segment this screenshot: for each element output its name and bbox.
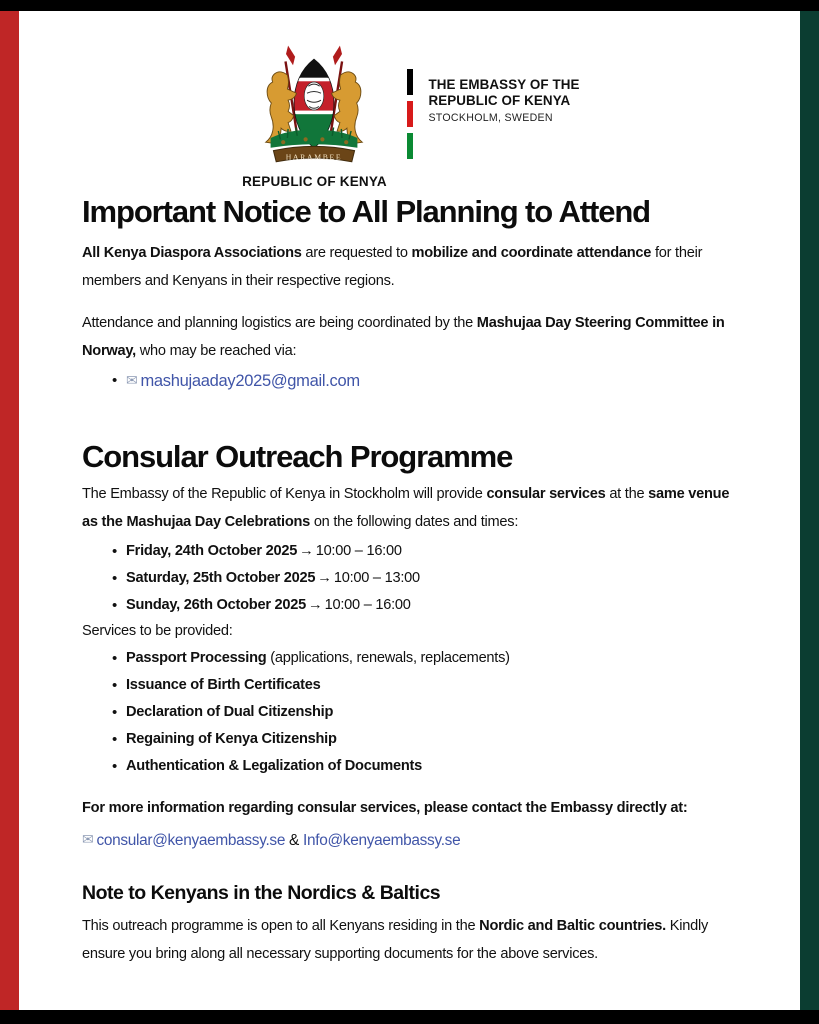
kenya-flag-bar-icon bbox=[407, 69, 413, 159]
notice-contact-list: ✉mashujaaday2025@gmail.com bbox=[82, 367, 738, 396]
consular-intro-paragraph: The Embassy of the Republic of Kenya in … bbox=[82, 480, 738, 536]
notice-paragraph-2: Attendance and planning logistics are be… bbox=[82, 309, 738, 365]
mashujaa-email-link[interactable]: mashujaaday2025@gmail.com bbox=[140, 372, 359, 390]
consular-email-link[interactable]: consular@kenyaembassy.se bbox=[96, 832, 285, 849]
consular-email-line: ✉consular@kenyaembassy.se & Info@kenyaem… bbox=[82, 824, 738, 856]
list-item: Passport Processing (applications, renew… bbox=[112, 645, 738, 672]
list-item: ✉mashujaaday2025@gmail.com bbox=[112, 367, 738, 396]
list-item: Authentication & Legalization of Documen… bbox=[112, 753, 738, 780]
poster-sheet: HARAMBEE REPUBLIC OF KENYA THE EMBASSY O… bbox=[19, 11, 800, 1010]
coat-of-arms-block: HARAMBEE REPUBLIC OF KENYA bbox=[239, 33, 389, 189]
list-item: Declaration of Dual Citizenship bbox=[112, 699, 738, 726]
embassy-name-line-2: REPUBLIC OF KENYA bbox=[428, 93, 579, 109]
consular-dates-list: Friday, 24th October 2025→10:00 – 16:00 … bbox=[82, 538, 738, 619]
list-item: Issuance of Birth Certificates bbox=[112, 672, 738, 699]
notice-title: Important Notice to All Planning to Atte… bbox=[82, 195, 738, 230]
poster-content: Important Notice to All Planning to Atte… bbox=[19, 195, 800, 968]
consular-services-list: Passport Processing (applications, renew… bbox=[82, 645, 738, 780]
date-day: Friday, 24th October 2025 bbox=[126, 543, 297, 559]
list-item: Sunday, 26th October 2025→10:00 – 16:00 bbox=[112, 592, 738, 619]
harambee-motto-text: HARAMBEE bbox=[286, 153, 343, 162]
service-name: Issuance of Birth Certificates bbox=[126, 677, 320, 693]
notice-p1-mid: are requested to bbox=[302, 245, 412, 261]
envelope-icon: ✉ bbox=[82, 824, 93, 854]
embassy-text-block: THE EMBASSY OF THE REPUBLIC OF KENYA STO… bbox=[428, 69, 579, 126]
embassy-city-label: STOCKHOLM, SWEDEN bbox=[428, 111, 579, 126]
consular-intro-mid: at the bbox=[606, 486, 649, 502]
arrow-right-icon: → bbox=[315, 570, 334, 586]
notice-p1-bold-2: mobilize and coordinate attendance bbox=[412, 245, 652, 261]
list-item: Friday, 24th October 2025→10:00 – 16:00 bbox=[112, 538, 738, 565]
notice-p2-tail: who may be reached via: bbox=[136, 343, 296, 359]
nordics-section-title: Note to Kenyans in the Nordics & Baltics bbox=[82, 882, 738, 904]
consular-contact-note: For more information regarding consular … bbox=[82, 794, 738, 822]
arrow-right-icon: → bbox=[306, 597, 325, 613]
email-separator: & bbox=[285, 832, 303, 849]
consular-intro-tail: on the following dates and times: bbox=[310, 514, 518, 530]
services-intro-label: Services to be provided: bbox=[82, 619, 738, 643]
embassy-name-line-1: THE EMBASSY OF THE bbox=[428, 77, 579, 93]
nordics-paragraph: This outreach programme is open to all K… bbox=[82, 912, 738, 968]
date-time: 10:00 – 16:00 bbox=[316, 543, 402, 559]
consular-intro-bold-1: consular services bbox=[486, 486, 605, 502]
service-name: Regaining of Kenya Citizenship bbox=[126, 731, 337, 747]
date-time: 10:00 – 13:00 bbox=[334, 570, 420, 586]
list-item: Regaining of Kenya Citizenship bbox=[112, 726, 738, 753]
service-detail: (applications, renewals, replacements) bbox=[266, 650, 509, 666]
notice-paragraph-1: All Kenya Diaspora Associations are requ… bbox=[82, 239, 738, 295]
list-item: Saturday, 25th October 2025→10:00 – 13:0… bbox=[112, 565, 738, 592]
consular-contact-note-text: For more information regarding consular … bbox=[82, 800, 687, 816]
date-day: Saturday, 25th October 2025 bbox=[126, 570, 315, 586]
info-email-link[interactable]: Info@kenyaembassy.se bbox=[303, 832, 460, 849]
envelope-icon: ✉ bbox=[126, 367, 137, 394]
date-day: Sunday, 26th October 2025 bbox=[126, 597, 306, 613]
date-time: 10:00 – 16:00 bbox=[325, 597, 411, 613]
service-name: Declaration of Dual Citizenship bbox=[126, 704, 333, 720]
nordics-bold: Nordic and Baltic countries. bbox=[479, 918, 666, 934]
embassy-header: HARAMBEE REPUBLIC OF KENYA THE EMBASSY O… bbox=[19, 11, 800, 189]
notice-p2-lead: Attendance and planning logistics are be… bbox=[82, 315, 477, 331]
service-name: Authentication & Legalization of Documen… bbox=[126, 758, 422, 774]
nordics-lead: This outreach programme is open to all K… bbox=[82, 918, 479, 934]
kenya-coat-of-arms-icon: HARAMBEE bbox=[244, 33, 384, 173]
coat-of-arms-caption: REPUBLIC OF KENYA bbox=[242, 174, 387, 189]
notice-p1-bold-lead: All Kenya Diaspora Associations bbox=[82, 245, 302, 261]
arrow-right-icon: → bbox=[297, 543, 316, 559]
consular-section-title: Consular Outreach Programme bbox=[82, 440, 738, 475]
service-name: Passport Processing bbox=[126, 650, 266, 666]
poster-page: HARAMBEE REPUBLIC OF KENYA THE EMBASSY O… bbox=[0, 11, 819, 1010]
embassy-identity: THE EMBASSY OF THE REPUBLIC OF KENYA STO… bbox=[407, 69, 579, 159]
consular-intro-lead: The Embassy of the Republic of Kenya in … bbox=[82, 486, 486, 502]
